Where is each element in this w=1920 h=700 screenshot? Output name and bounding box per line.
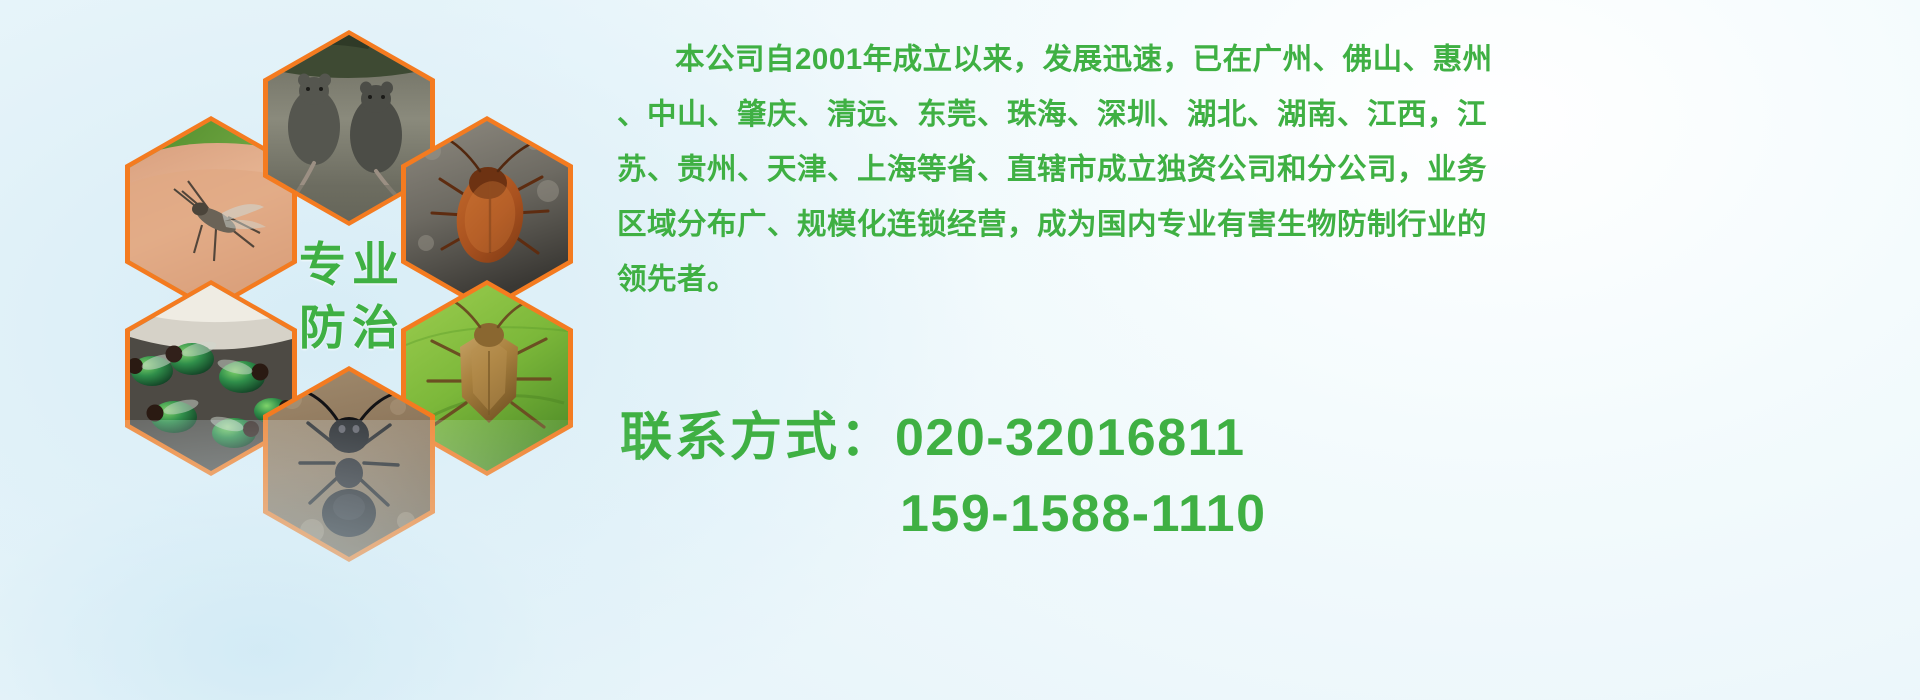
- contact-label: 联系方式：: [620, 409, 895, 467]
- intro-line-3: 苏、贵州、天津、上海等省、直辖市成立独资公司和分公司，业务: [617, 142, 1907, 197]
- phone-secondary[interactable]: 159-1588-1110: [900, 485, 1267, 543]
- promo-banner: 专业 防治 本公司自2001年成立以来，发展迅速，已在广州、佛山、惠州 、中山、…: [0, 0, 1920, 700]
- company-intro-block: 本公司自2001年成立以来，发展迅速，已在广州、佛山、惠州 、中山、肇庆、清远、…: [617, 32, 1907, 307]
- badge-line-1: 专业: [293, 241, 405, 289]
- contact-primary-line: 联系方式：020-32016811: [620, 400, 1620, 476]
- intro-line-1: 本公司自2001年成立以来，发展迅速，已在广州、佛山、惠州: [617, 32, 1907, 87]
- hexagon-photo-cluster: 专业 防治: [95, 8, 595, 568]
- contact-secondary-line: 159-1588-1110: [620, 476, 1620, 552]
- intro-line-2: 、中山、肇庆、清远、东莞、珠海、深圳、湖北、湖南、江西，江: [617, 87, 1907, 142]
- ant-photo-icon: [268, 371, 430, 557]
- contact-block: 联系方式：020-32016811 159-1588-1110: [620, 400, 1620, 552]
- phone-primary[interactable]: 020-32016811: [895, 409, 1246, 467]
- intro-paragraph: 本公司自2001年成立以来，发展迅速，已在广州、佛山、惠州 、中山、肇庆、清远、…: [617, 32, 1907, 307]
- hex-inner-ant: [268, 371, 430, 557]
- badge-专业防治: 专业 防治: [263, 198, 435, 394]
- intro-line-5: 领先者。: [617, 252, 1907, 307]
- badge-line-2: 防治: [293, 304, 405, 352]
- intro-line-4: 区域分布广、规模化连锁经营，成为国内专业有害生物防制行业的: [617, 197, 1907, 252]
